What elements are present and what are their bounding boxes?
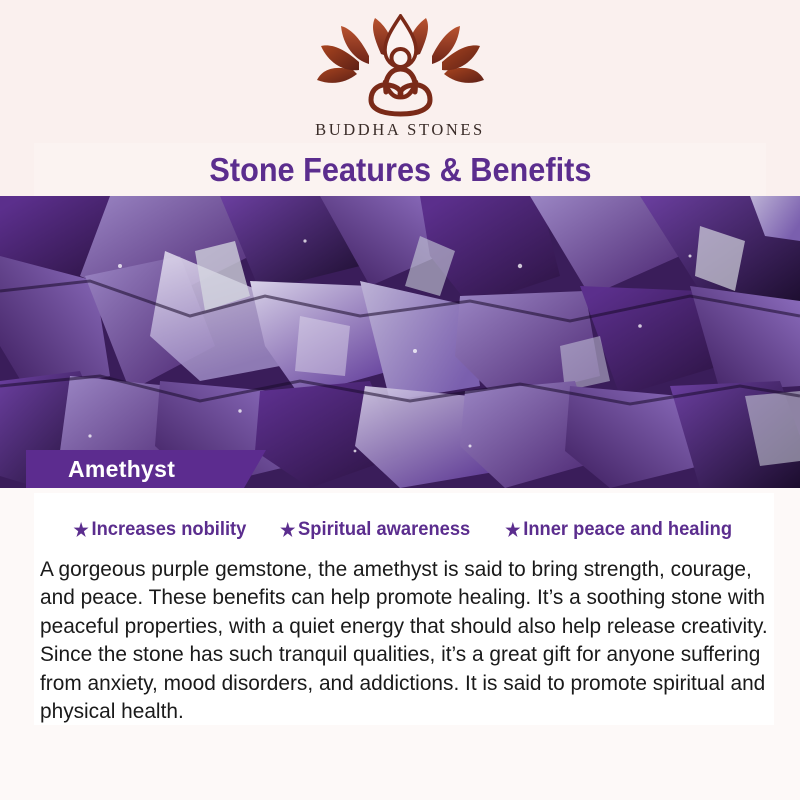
content-card: BUDDHA STONES Stone Features & Benefits [0,0,800,800]
description-section: ★ Increases nobility ★ Spiritual awarene… [0,488,800,800]
benefit-label-3: Inner peace and healing [524,518,733,541]
brand-logo: BUDDHA STONES [313,14,488,140]
benefit-item-2: ★ Spiritual awareness [280,518,470,541]
star-icon: ★ [74,521,89,539]
description-text: A gorgeous purple gemstone, the amethyst… [40,555,787,725]
stone-name-label: Amethyst [26,456,175,483]
benefit-label-1: Increases nobility [92,518,247,541]
title-bar: Stone Features & Benefits [34,143,766,196]
benefits-list: ★ Increases nobility ★ Spiritual awarene… [34,518,774,541]
brand-name: BUDDHA STONES [315,120,485,140]
lotus-meditation-icon [313,14,488,118]
star-icon: ★ [506,521,521,539]
infographic-page: BUDDHA STONES Stone Features & Benefits [0,0,800,800]
star-icon: ★ [280,521,295,539]
description-panel: ★ Increases nobility ★ Spiritual awarene… [34,493,774,725]
benefit-item-3: ★ Inner peace and healing [506,518,733,541]
page-title: Stone Features & Benefits [209,151,591,189]
benefit-item-1: ★ Increases nobility [74,518,247,541]
benefit-label-2: Spiritual awareness [298,518,470,541]
stone-name-ribbon: Amethyst [26,450,266,488]
amethyst-crystal-image [0,196,800,488]
